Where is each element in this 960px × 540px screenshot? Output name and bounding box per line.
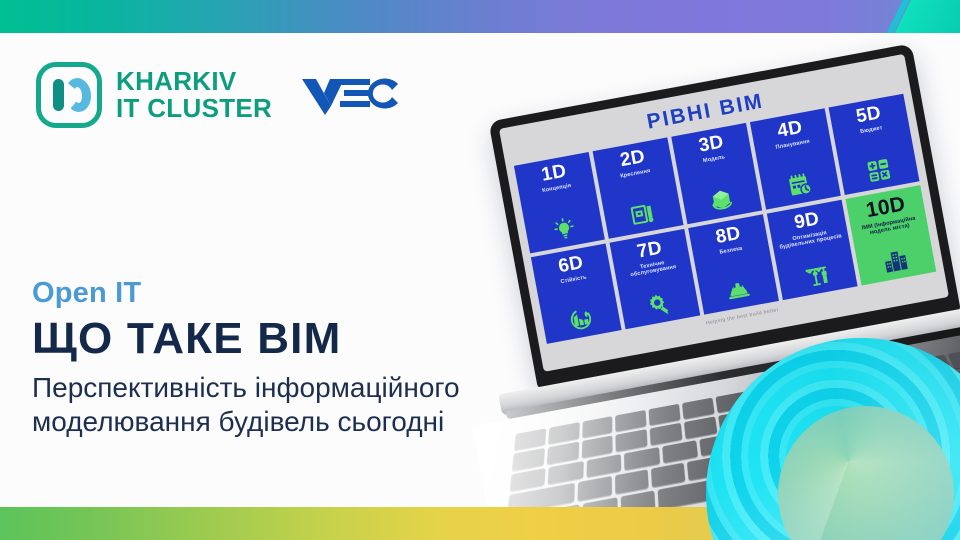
bim-level-dim: 7D xyxy=(635,238,663,261)
cluster-logo-line2: IT CLUSTER xyxy=(116,95,272,122)
eyebrow-label: Open IT xyxy=(32,278,672,310)
page-title: ЩО ТАКЕ BIM xyxy=(32,316,672,362)
cluster-logo-line1: KHARKIV xyxy=(116,68,272,95)
bim-level-dim: 9D xyxy=(793,209,821,232)
keyboard-key[interactable] xyxy=(662,440,698,464)
keyboard-key[interactable] xyxy=(651,463,686,488)
bim-level-tile-2d[interactable]: 2DКреслення xyxy=(593,137,684,238)
keyboard-key[interactable] xyxy=(548,461,584,485)
top-band-teal-accent xyxy=(886,0,960,33)
vec-logo-icon xyxy=(300,73,404,117)
cube-model-icon xyxy=(706,184,736,214)
bim-level-caption: Бюджет xyxy=(860,125,883,136)
bim-level-dim: 10D xyxy=(864,193,907,221)
bim-level-dim: 1D xyxy=(540,162,568,185)
keyboard-key[interactable] xyxy=(615,470,649,495)
bim-level-tile-8d[interactable]: 8DБезпека xyxy=(688,214,779,315)
bim-level-dim: 3D xyxy=(697,132,725,155)
kharkiv-it-cluster-mark-icon xyxy=(36,62,102,128)
subtitle-line-1: Перспективність інформаційного xyxy=(32,371,672,405)
keyboard-key[interactable] xyxy=(510,468,546,493)
headline-block: Open IT ЩО ТАКЕ BIM Перспективність інфо… xyxy=(32,278,672,439)
keyboard-key[interactable] xyxy=(547,441,579,464)
keyboard-key[interactable] xyxy=(578,476,612,501)
calculator-icon xyxy=(864,155,894,185)
keyboard-key[interactable] xyxy=(512,448,545,471)
crane-icon xyxy=(802,260,832,290)
bim-level-caption: ІММ (Інформаційна модель міста) xyxy=(855,214,923,240)
keyboard-key[interactable] xyxy=(682,398,714,419)
bim-level-tile-3d[interactable]: 3DМодель xyxy=(671,123,762,224)
blueprint-icon xyxy=(628,199,658,229)
bim-level-dim: 5D xyxy=(855,103,883,126)
bim-level-dim: 8D xyxy=(714,223,742,246)
bim-level-tile-4d[interactable]: 4DПланування xyxy=(750,108,841,209)
bim-level-caption: Оптимізація будівельних процесів xyxy=(776,227,844,253)
bim-level-dim: 2D xyxy=(619,147,647,170)
bim-level-dim: 6D xyxy=(557,253,585,276)
keyboard-key[interactable] xyxy=(684,416,717,438)
bim-level-tile-5d[interactable]: 5DБюджет xyxy=(829,94,920,195)
subtitle-line-2: моделювання будівель сьогодні xyxy=(32,405,672,439)
top-gradient-band xyxy=(0,0,960,33)
bim-level-tile-1d[interactable]: 1DКонцепція xyxy=(514,152,605,253)
kharkiv-it-cluster-logo: KHARKIV IT CLUSTER xyxy=(36,62,272,128)
bim-level-caption: Модель xyxy=(703,154,726,165)
kharkiv-it-cluster-wordmark: KHARKIV IT CLUSTER xyxy=(116,68,272,121)
keyboard-key[interactable] xyxy=(624,447,660,471)
bim-level-tile-9d[interactable]: 9DОптимізація будівельних процесів xyxy=(767,199,858,300)
hard-hat-icon xyxy=(723,275,753,305)
logo-row: KHARKIV IT CLUSTER xyxy=(36,62,404,128)
poster-canvas: KHARKIV IT CLUSTER Open IT ЩО ТАКЕ BIM П… xyxy=(0,0,960,540)
keyboard-key[interactable] xyxy=(586,454,621,478)
lightbulb-icon xyxy=(549,213,579,243)
calendar-clock-icon xyxy=(785,169,815,199)
subtitle: Перспективність інформаційного моделюван… xyxy=(32,371,672,439)
bim-level-caption: Безпека xyxy=(719,245,743,256)
city-buildings-icon xyxy=(880,246,910,276)
bim-level-dim: 4D xyxy=(776,118,804,141)
bim-level-tile-10d[interactable]: 10DІММ (Інформаційна модель міста) xyxy=(845,185,936,286)
